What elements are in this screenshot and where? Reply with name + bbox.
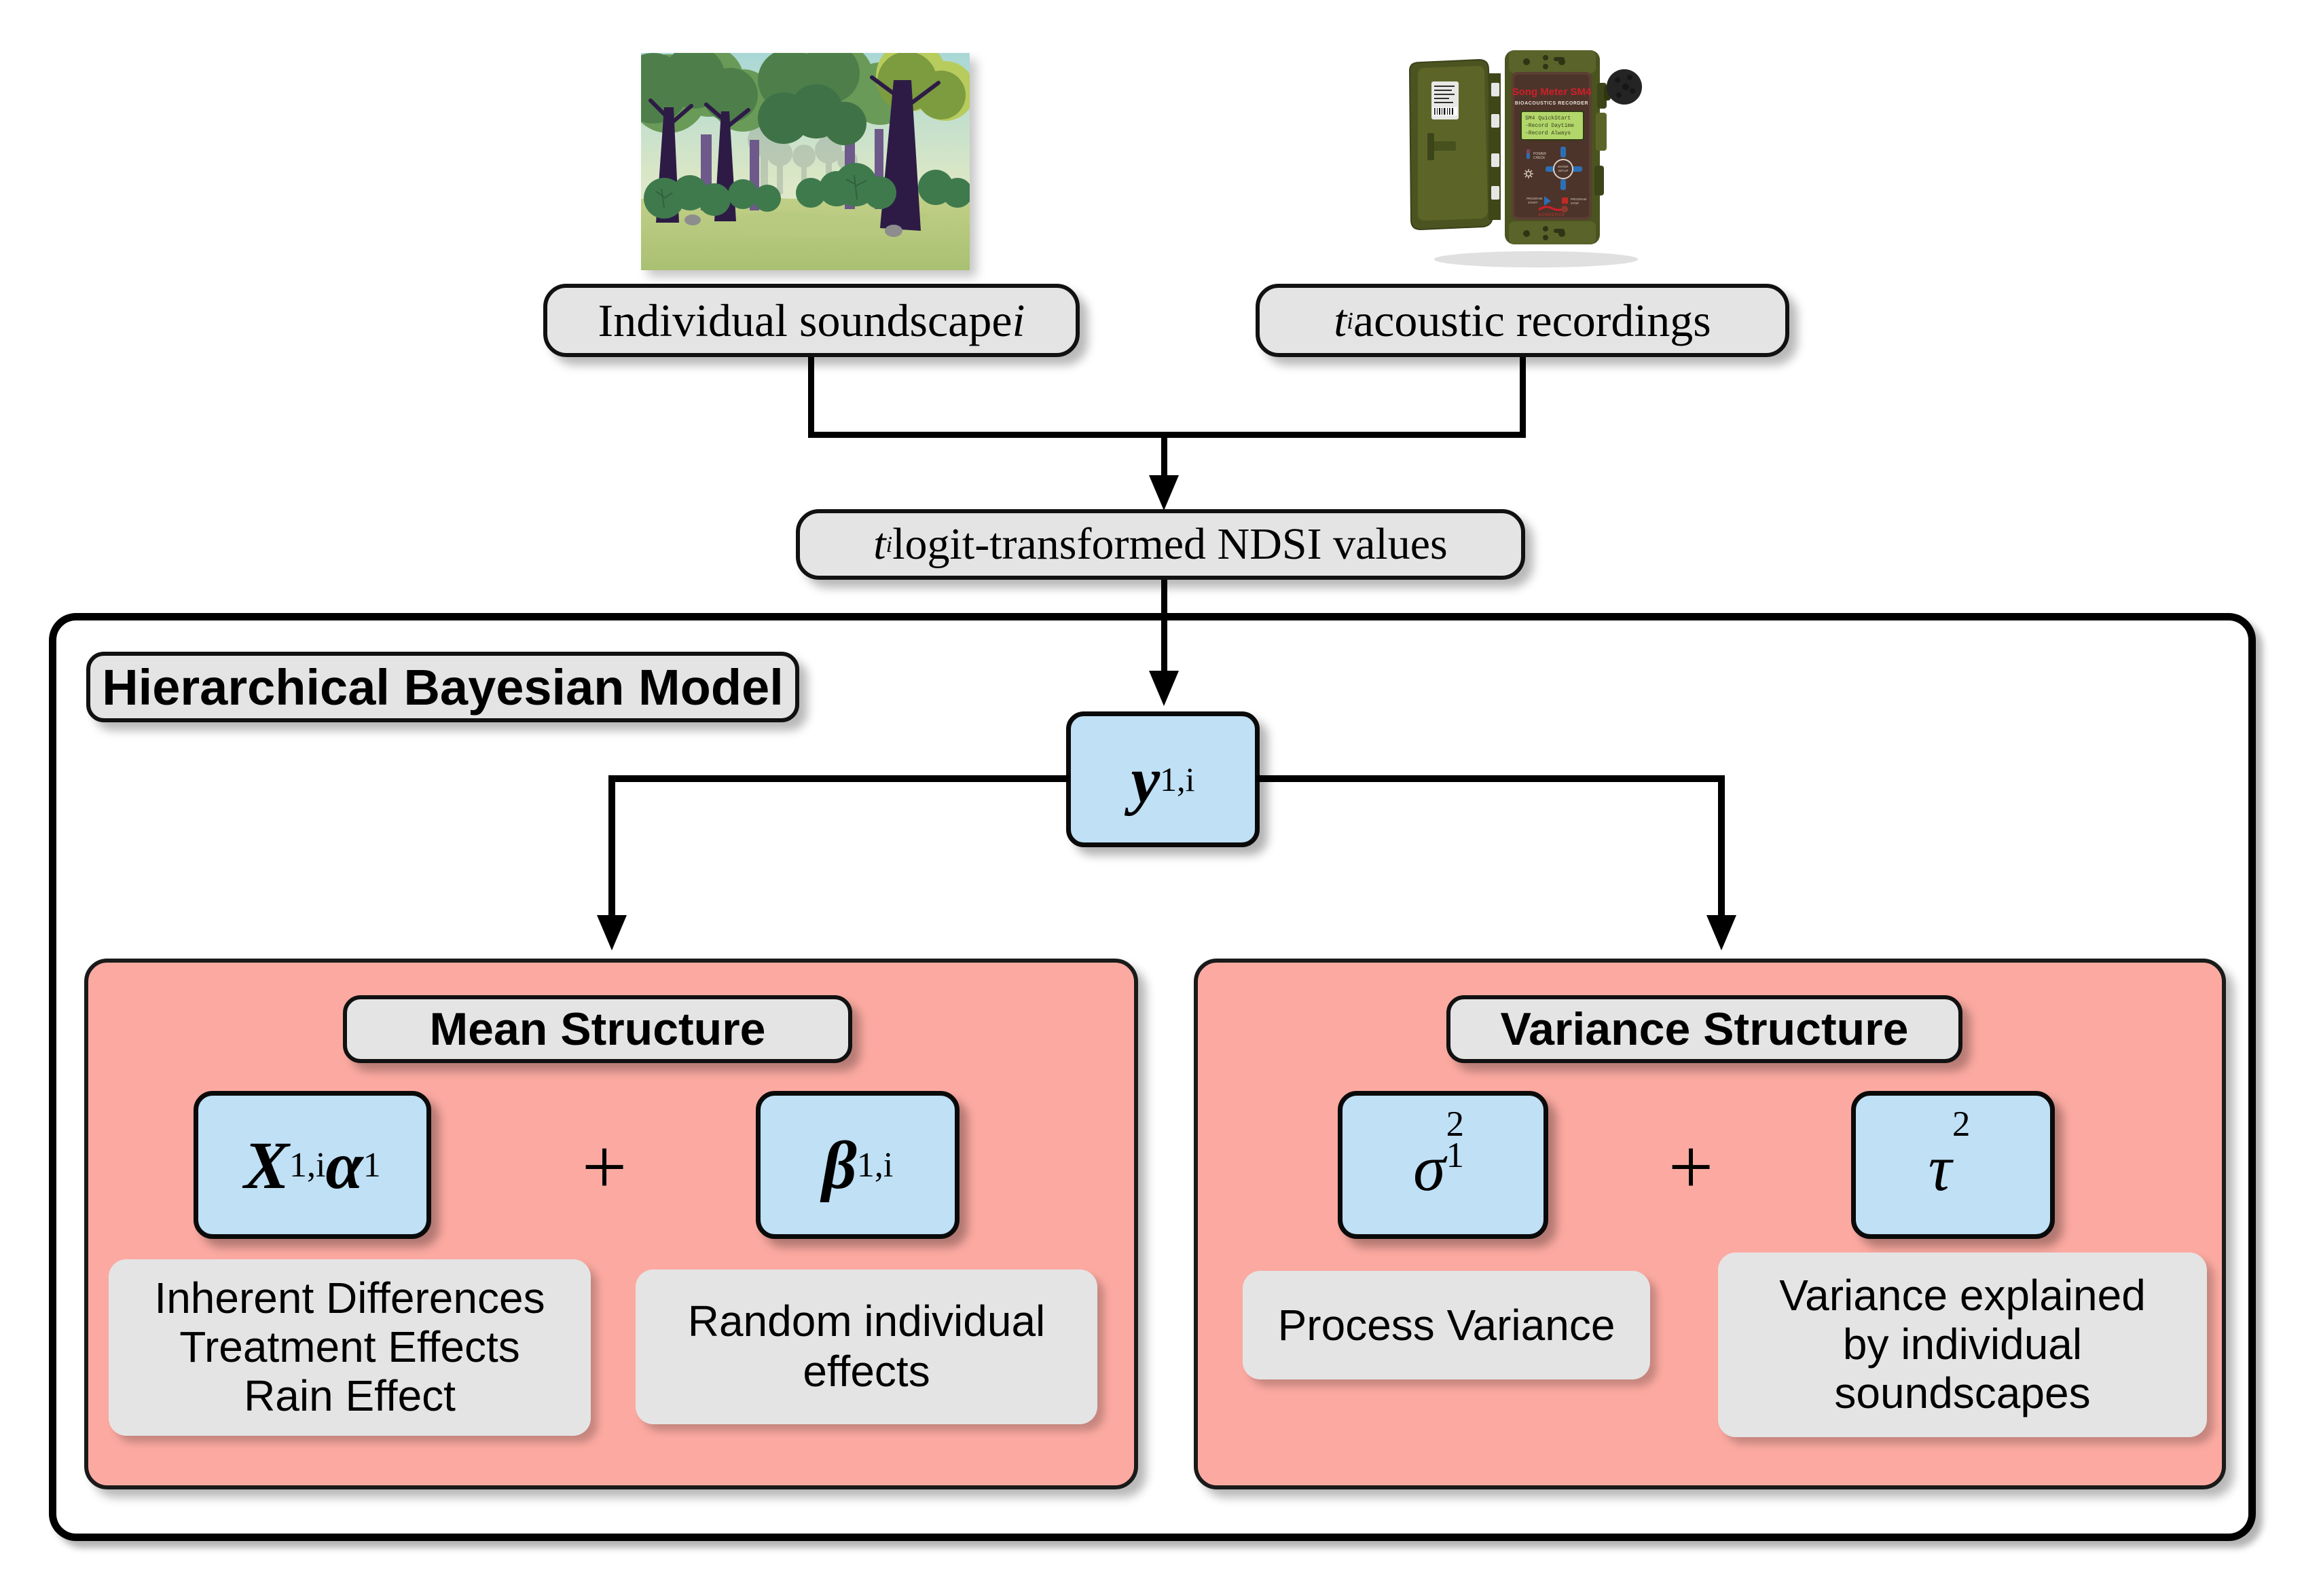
- recordings-label-text: acoustic recordings: [1353, 294, 1711, 348]
- recordings-count-subscript: i: [1347, 306, 1353, 335]
- forest-illustration-svg: [641, 53, 970, 270]
- sigma-subscript: 1: [1446, 1135, 1464, 1176]
- description-line-variance-explained: Variance explained: [1779, 1272, 2146, 1320]
- description-line-treatment-effects: Treatment Effects: [179, 1323, 520, 1372]
- description-line-effects: effects: [803, 1347, 930, 1397]
- description-design-coefficients: Inherent Differences Treatment Effects R…: [109, 1259, 591, 1436]
- variance-structure-plus-symbol: +: [1668, 1122, 1714, 1211]
- arrow-to-ndsi: [1149, 475, 1179, 511]
- svg-text:ENTER: ENTER: [1558, 165, 1569, 168]
- variance-structure-header-badge: Variance Structure: [1446, 995, 1962, 1063]
- svg-text:ACOUSTICS: ACOUSTICS: [1539, 213, 1565, 217]
- svg-text:SETUP: SETUP: [1558, 169, 1568, 172]
- recordings-count-symbol: t: [1334, 294, 1347, 348]
- song-meter-sm4-recorder: Song Meter SM4 BIOACOUSTICS RECORDER SM4…: [1393, 33, 1665, 270]
- mean-structure-plus-symbol: +: [582, 1122, 627, 1211]
- response-node-y1i: y1,i: [1066, 711, 1260, 847]
- design-matrix-subscript: 1,i: [289, 1145, 325, 1185]
- connector-soundscape-down: [808, 357, 814, 435]
- soundscape-label-box: Individual soundscape i: [543, 284, 1080, 357]
- svg-text:STOP: STOP: [1571, 202, 1579, 205]
- node-soundscape-variance: τ 2: [1851, 1091, 2055, 1239]
- tau-superscript: 2: [1952, 1104, 1970, 1145]
- connector-split-right: [1256, 775, 1725, 782]
- svg-text:PROGRAM: PROGRAM: [1527, 197, 1543, 200]
- beta-symbol: β: [822, 1126, 857, 1204]
- arrow-to-mean-structure: [597, 915, 627, 950]
- beta-subscript: 1,i: [857, 1145, 893, 1185]
- response-subscript: 1,i: [1160, 760, 1194, 799]
- connector-split-left: [608, 775, 1070, 782]
- sigma-symbol: σ: [1413, 1132, 1445, 1204]
- connector-left-branch-down: [608, 775, 615, 918]
- model-header-badge: Hierarchical Bayesian Model: [86, 652, 799, 722]
- svg-text:SM4 QuickStart: SM4 QuickStart: [1525, 115, 1571, 122]
- svg-text:BIOACOUSTICS RECORDER: BIOACOUSTICS RECORDER: [1515, 101, 1588, 106]
- mean-structure-header-text: Mean Structure: [430, 1003, 766, 1056]
- design-matrix-symbol: X: [244, 1126, 289, 1204]
- tau-symbol: τ: [1929, 1132, 1952, 1204]
- svg-text:PROGRAM: PROGRAM: [1571, 198, 1587, 201]
- description-line-inherent-differences: Inherent Differences: [154, 1274, 545, 1323]
- mean-structure-header-badge: Mean Structure: [343, 995, 852, 1063]
- svg-text:START: START: [1528, 201, 1538, 204]
- ndsi-label-text: logit-transformed NDSI values: [892, 519, 1448, 570]
- node-process-variance: σ 2 1: [1338, 1091, 1548, 1239]
- svg-text:-Record Daytime: -Record Daytime: [1525, 123, 1574, 129]
- connector-recordings-down: [1520, 357, 1526, 435]
- description-random-individual-effects: Random individual effects: [636, 1269, 1097, 1424]
- description-line-random-individual: Random individual: [688, 1297, 1046, 1347]
- svg-text:Song Meter SM4: Song Meter SM4: [1512, 86, 1592, 98]
- description-line-by-individual: by individual: [1843, 1320, 2082, 1369]
- connector-right-branch-down: [1718, 775, 1725, 918]
- ndsi-values-box: ti logit-transformed NDSI values: [796, 509, 1525, 580]
- variance-structure-plus-operator: +: [1650, 1127, 1732, 1207]
- recordings-label-box: ti acoustic recordings: [1256, 284, 1789, 357]
- diagram-canvas: Song Meter SM4 BIOACOUSTICS RECORDER SM4…: [0, 0, 2302, 1596]
- recorder-svg: Song Meter SM4 BIOACOUSTICS RECORDER SM4…: [1393, 33, 1665, 270]
- svg-text:CHECK: CHECK: [1533, 156, 1546, 160]
- description-line-rain-effect: Rain Effect: [244, 1372, 456, 1421]
- description-soundscape-variance: Variance explained by individual soundsc…: [1718, 1252, 2207, 1437]
- mean-structure-plus-operator: +: [564, 1127, 645, 1207]
- soundscape-index-symbol: i: [1012, 294, 1025, 348]
- node-design-coefficients: X1,iα1: [194, 1091, 431, 1239]
- variance-structure-header-text: Variance Structure: [1501, 1003, 1909, 1056]
- alpha-symbol: α: [325, 1126, 363, 1204]
- connector-merge-stem: [1161, 432, 1167, 478]
- soundscape-label-text: Individual soundscape: [598, 294, 1012, 348]
- description-line-soundscapes: soundscapes: [1834, 1369, 2090, 1418]
- ndsi-count-symbol: t: [873, 519, 885, 570]
- forest-illustration: [641, 53, 970, 270]
- model-header-text: Hierarchical Bayesian Model: [102, 658, 784, 716]
- description-text-process-variance: Process Variance: [1278, 1300, 1615, 1350]
- svg-text:-Record Always: -Record Always: [1525, 130, 1571, 136]
- alpha-subscript: 1: [363, 1145, 381, 1185]
- response-symbol: y: [1131, 742, 1161, 817]
- arrow-to-variance-structure: [1706, 915, 1736, 950]
- node-random-individual-effects: β1,i: [756, 1091, 960, 1239]
- ndsi-count-subscript: i: [886, 532, 893, 558]
- description-process-variance: Process Variance: [1243, 1271, 1650, 1379]
